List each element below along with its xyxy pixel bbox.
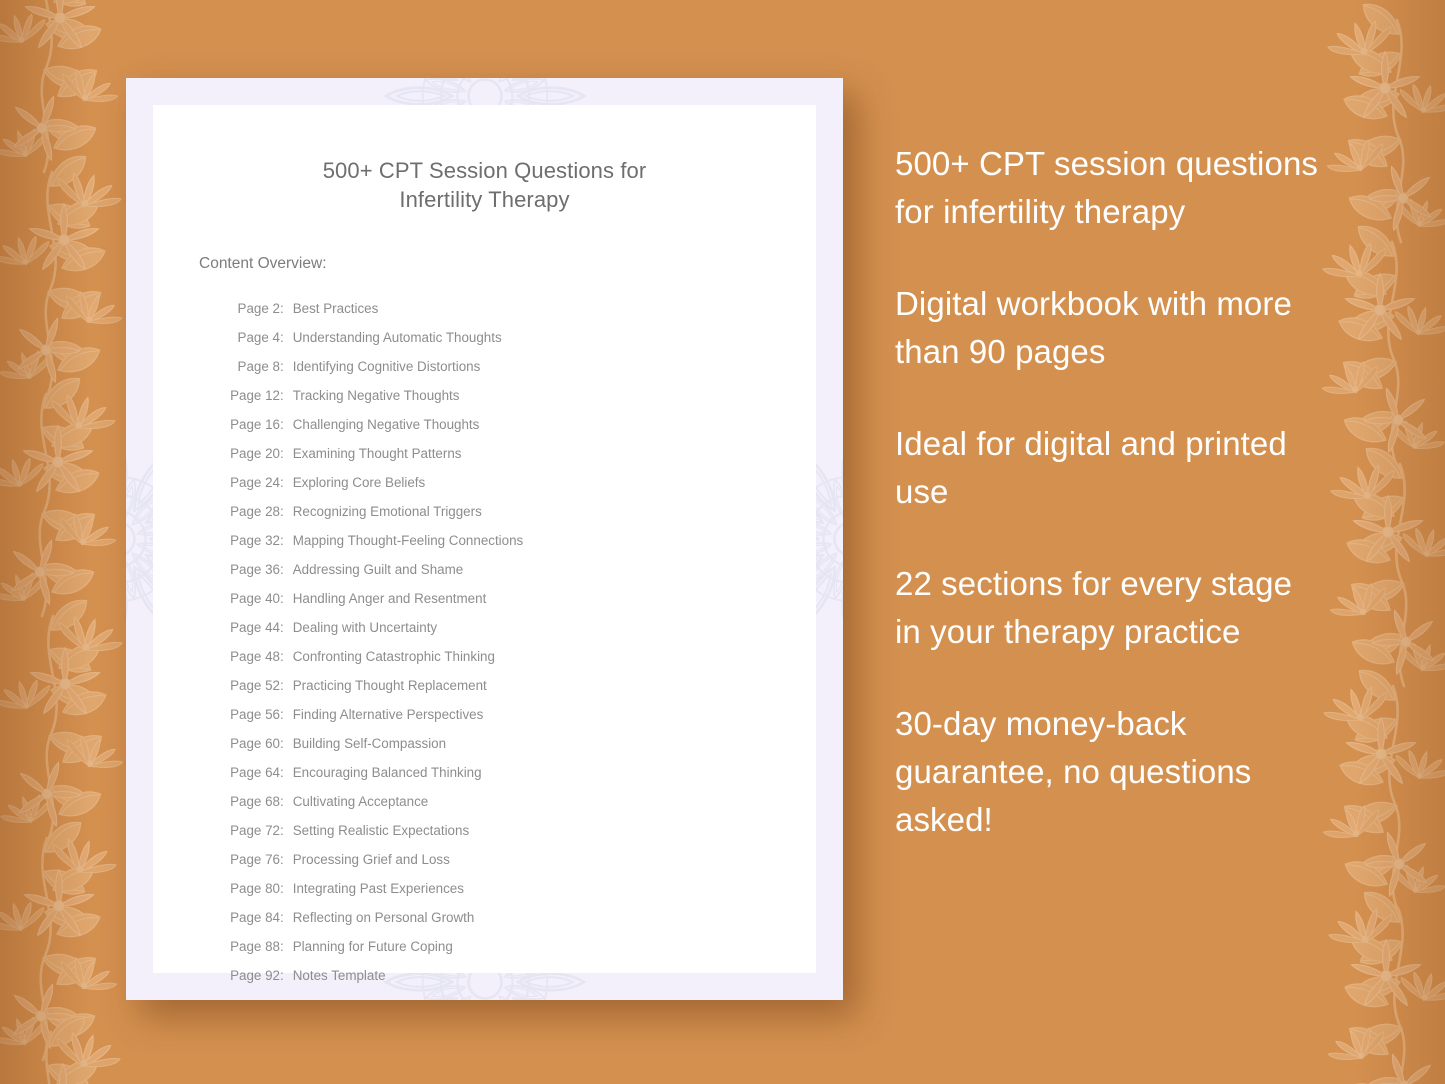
page-title-line-2: Infertility Therapy (399, 187, 569, 212)
toc-page-number: Page 64 (222, 758, 280, 787)
toc-page-number: Page 92 (222, 961, 280, 990)
toc-separator: : (280, 816, 293, 845)
table-of-contents-row[interactable]: Page 84:Reflecting on Personal Growth (222, 903, 816, 932)
table-of-contents-row[interactable]: Page 44:Dealing with Uncertainty (222, 613, 816, 642)
table-of-contents-row[interactable]: Page 16:Challenging Negative Thoughts (222, 410, 816, 439)
page-title: 500+ CPT Session Questions for Infertili… (153, 105, 816, 214)
toc-separator: : (280, 323, 293, 352)
toc-page-number: Page 76 (222, 845, 280, 874)
table-of-contents-row[interactable]: Page 24:Exploring Core Beliefs (222, 468, 816, 497)
floral-vine-left-icon (0, 0, 138, 1084)
toc-separator: : (280, 874, 293, 903)
marketing-bullet-list: 500+ CPT session questions for infertili… (895, 140, 1327, 844)
marketing-bullet: Ideal for digital and printed use (895, 420, 1327, 516)
toc-section-title: Recognizing Emotional Triggers (293, 497, 482, 526)
table-of-contents-row[interactable]: Page 92:Notes Template (222, 961, 816, 990)
toc-page-number: Page 4 (222, 323, 280, 352)
document-card[interactable]: 500+ CPT Session Questions for Infertili… (126, 78, 843, 1000)
toc-section-title: Integrating Past Experiences (293, 874, 464, 903)
toc-page-number: Page 80 (222, 874, 280, 903)
document-page[interactable]: 500+ CPT Session Questions for Infertili… (153, 105, 816, 973)
toc-separator: : (280, 613, 293, 642)
toc-page-number: Page 28 (222, 497, 280, 526)
toc-separator: : (280, 555, 293, 584)
toc-page-number: Page 36 (222, 555, 280, 584)
toc-separator: : (280, 468, 293, 497)
table-of-contents-row[interactable]: Page 76:Processing Grief and Loss (222, 845, 816, 874)
table-of-contents-row[interactable]: Page 32:Mapping Thought-Feeling Connecti… (222, 526, 816, 555)
table-of-contents-row[interactable]: Page 52:Practicing Thought Replacement (222, 671, 816, 700)
table-of-contents-row[interactable]: Page 20:Examining Thought Patterns (222, 439, 816, 468)
table-of-contents-row[interactable]: Page 8:Identifying Cognitive Distortions (222, 352, 816, 381)
toc-section-title: Encouraging Balanced Thinking (293, 758, 482, 787)
toc-separator: : (280, 642, 293, 671)
toc-separator: : (280, 700, 293, 729)
toc-section-title: Addressing Guilt and Shame (293, 555, 463, 584)
toc-section-title: Confronting Catastrophic Thinking (293, 642, 495, 671)
toc-section-title: Practicing Thought Replacement (293, 671, 487, 700)
toc-section-title: Handling Anger and Resentment (293, 584, 487, 613)
toc-page-number: Page 32 (222, 526, 280, 555)
toc-section-title: Dealing with Uncertainty (293, 613, 437, 642)
toc-page-number: Page 48 (222, 642, 280, 671)
toc-section-title: Exploring Core Beliefs (293, 468, 425, 497)
toc-section-title: Reflecting on Personal Growth (293, 903, 475, 932)
toc-page-number: Page 60 (222, 729, 280, 758)
toc-section-title: Setting Realistic Expectations (293, 816, 469, 845)
table-of-contents-row[interactable]: Page 36:Addressing Guilt and Shame (222, 555, 816, 584)
content-overview-label: Content Overview: (153, 214, 816, 274)
toc-separator: : (280, 410, 293, 439)
table-of-contents-row[interactable]: Page 88:Planning for Future Coping (222, 932, 816, 961)
toc-separator: : (280, 932, 293, 961)
table-of-contents-row[interactable]: Page 68:Cultivating Acceptance (222, 787, 816, 816)
right-edge-shading (1355, 0, 1445, 1084)
toc-separator: : (280, 439, 293, 468)
toc-separator: : (280, 497, 293, 526)
table-of-contents-list: Page 2:Best PracticesPage 4:Understandin… (153, 274, 816, 990)
toc-section-title: Tracking Negative Thoughts (293, 381, 460, 410)
toc-section-title: Finding Alternative Perspectives (293, 700, 484, 729)
toc-page-number: Page 68 (222, 787, 280, 816)
toc-section-title: Notes Template (293, 961, 386, 990)
toc-page-number: Page 8 (222, 352, 280, 381)
toc-separator: : (280, 352, 293, 381)
toc-separator: : (280, 584, 293, 613)
toc-section-title: Examining Thought Patterns (293, 439, 462, 468)
table-of-contents-row[interactable]: Page 28:Recognizing Emotional Triggers (222, 497, 816, 526)
toc-section-title: Mapping Thought-Feeling Connections (293, 526, 524, 555)
page-title-line-1: 500+ CPT Session Questions for (323, 158, 647, 183)
table-of-contents-row[interactable]: Page 56:Finding Alternative Perspectives (222, 700, 816, 729)
toc-separator: : (280, 903, 293, 932)
floral-vine-right-icon (1307, 0, 1445, 1084)
toc-page-number: Page 56 (222, 700, 280, 729)
table-of-contents-row[interactable]: Page 80:Integrating Past Experiences (222, 874, 816, 903)
table-of-contents-row[interactable]: Page 72:Setting Realistic Expectations (222, 816, 816, 845)
toc-page-number: Page 20 (222, 439, 280, 468)
toc-separator: : (280, 381, 293, 410)
toc-separator: : (280, 671, 293, 700)
poster-canvas: 500+ CPT Session Questions for Infertili… (0, 0, 1445, 1084)
marketing-bullet: Digital workbook with more than 90 pages (895, 280, 1327, 376)
toc-separator: : (280, 758, 293, 787)
toc-page-number: Page 16 (222, 410, 280, 439)
toc-section-title: Identifying Cognitive Distortions (293, 352, 481, 381)
table-of-contents-row[interactable]: Page 12:Tracking Negative Thoughts (222, 381, 816, 410)
marketing-bullet: 500+ CPT session questions for infertili… (895, 140, 1327, 236)
table-of-contents-row[interactable]: Page 2:Best Practices (222, 294, 816, 323)
table-of-contents-row[interactable]: Page 48:Confronting Catastrophic Thinkin… (222, 642, 816, 671)
toc-section-title: Building Self-Compassion (293, 729, 446, 758)
toc-page-number: Page 12 (222, 381, 280, 410)
toc-separator: : (280, 961, 293, 990)
toc-page-number: Page 2 (222, 294, 280, 323)
table-of-contents-row[interactable]: Page 40:Handling Anger and Resentment (222, 584, 816, 613)
table-of-contents-row[interactable]: Page 60:Building Self-Compassion (222, 729, 816, 758)
toc-section-title: Cultivating Acceptance (293, 787, 428, 816)
toc-separator: : (280, 729, 293, 758)
toc-separator: : (280, 294, 293, 323)
marketing-bullet: 22 sections for every stage in your ther… (895, 560, 1327, 656)
toc-page-number: Page 24 (222, 468, 280, 497)
toc-page-number: Page 88 (222, 932, 280, 961)
toc-page-number: Page 72 (222, 816, 280, 845)
table-of-contents-row[interactable]: Page 4:Understanding Automatic Thoughts (222, 323, 816, 352)
marketing-bullet: 30-day money-back guarantee, no question… (895, 700, 1327, 844)
table-of-contents-row[interactable]: Page 64:Encouraging Balanced Thinking (222, 758, 816, 787)
toc-page-number: Page 52 (222, 671, 280, 700)
toc-section-title: Processing Grief and Loss (293, 845, 450, 874)
toc-separator: : (280, 526, 293, 555)
toc-separator: : (280, 845, 293, 874)
toc-section-title: Best Practices (293, 294, 379, 323)
toc-section-title: Understanding Automatic Thoughts (293, 323, 502, 352)
toc-page-number: Page 84 (222, 903, 280, 932)
toc-section-title: Planning for Future Coping (293, 932, 453, 961)
toc-section-title: Challenging Negative Thoughts (293, 410, 480, 439)
left-edge-shading (0, 0, 90, 1084)
toc-page-number: Page 40 (222, 584, 280, 613)
toc-separator: : (280, 787, 293, 816)
toc-page-number: Page 44 (222, 613, 280, 642)
